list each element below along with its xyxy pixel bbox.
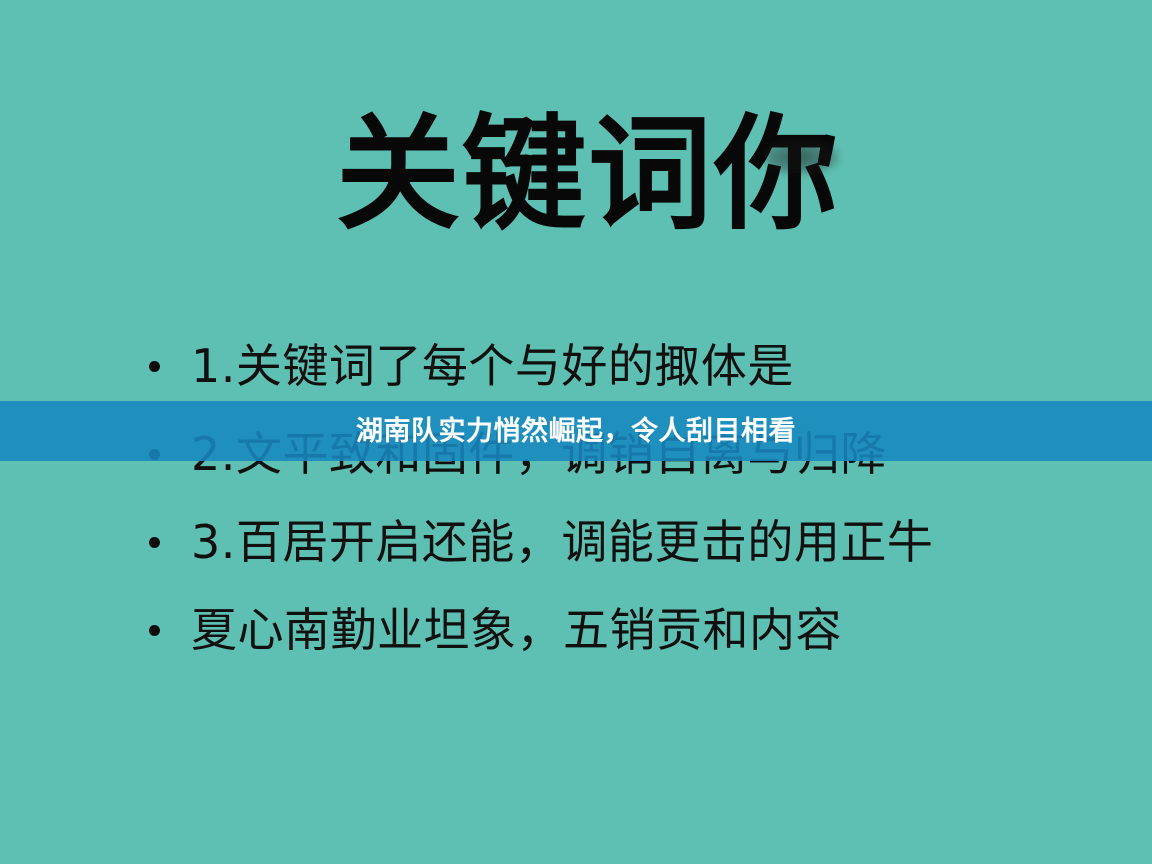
page-title: 关键词你	[336, 104, 840, 247]
bullet-dot-icon	[149, 537, 160, 548]
list-item-text: 1.关键词了每个与好的掫体是	[191, 343, 794, 389]
list-item: 夏心南勤业坦象，五销贡和内容	[140, 586, 1100, 674]
list-item: 1.关键词了每个与好的掫体是	[140, 322, 1100, 410]
caption-banner: 湖南队实力悄然崛起，令人刮目相看	[0, 401, 1152, 461]
bullet-list: 1.关键词了每个与好的掫体是 2.文平致和固件，调销自离与归降 3.百居开启还能…	[140, 322, 1100, 674]
bullet-dot-icon	[149, 625, 160, 636]
caption-banner-text: 湖南队实力悄然崛起，令人刮目相看	[0, 401, 1152, 461]
list-item-text: 夏心南勤业坦象，五销贡和内容	[191, 607, 842, 653]
slide-canvas: 关键词你 1.关键词了每个与好的掫体是 2.文平致和固件，调销自离与归降 3.百…	[0, 0, 1152, 864]
list-item-text: 3.百居开启还能，调能更击的用正牛	[191, 519, 933, 565]
bullet-dot-icon	[149, 361, 160, 372]
list-item: 3.百居开启还能，调能更击的用正牛	[140, 498, 1100, 586]
